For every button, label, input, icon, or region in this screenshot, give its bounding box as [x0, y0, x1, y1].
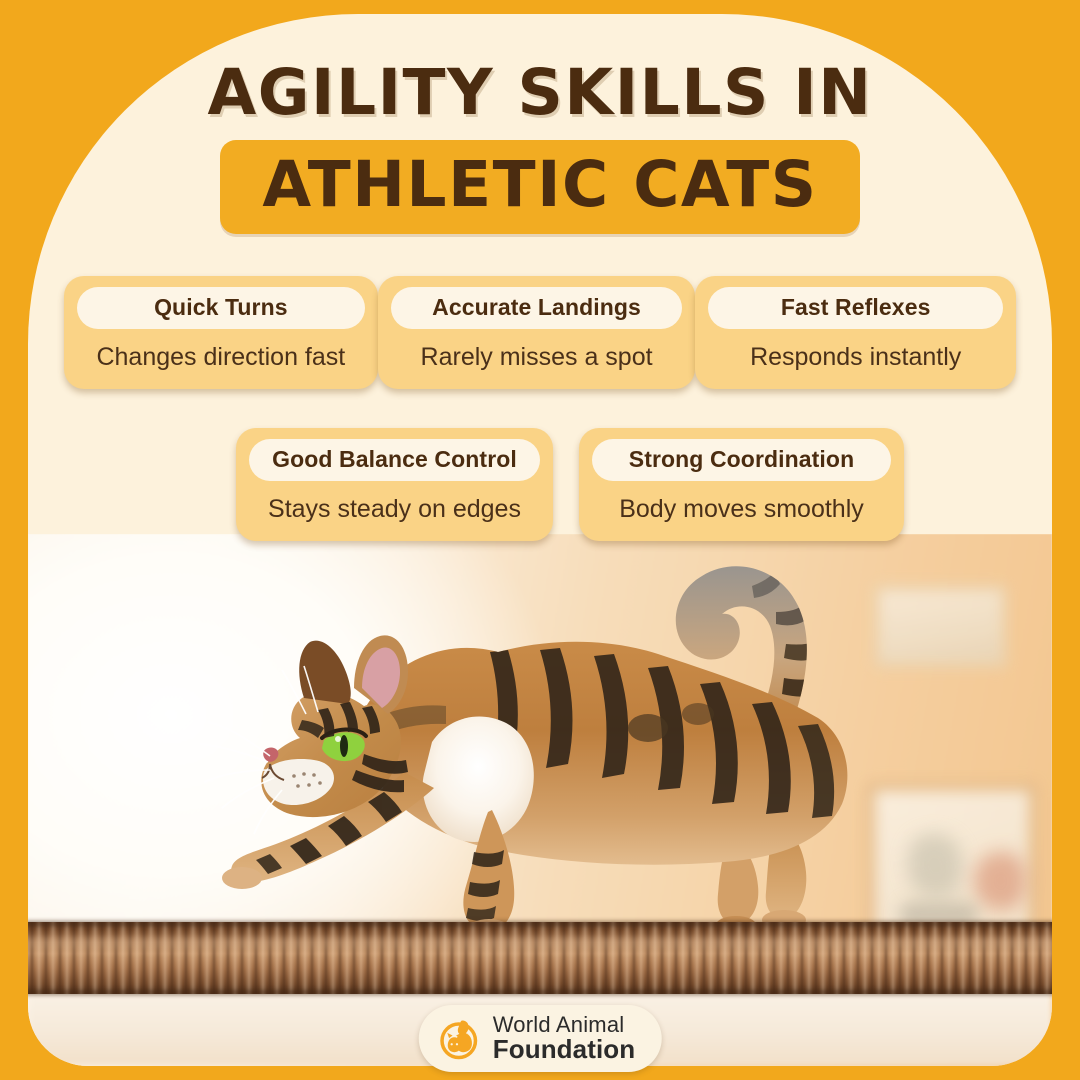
poster-heading: AGILITY SKILLS IN ATHLETIC CATS — [28, 60, 1052, 234]
fact-card-title: Quick Turns — [77, 287, 365, 329]
fact-card-accurate-landings[interactable]: Accurate Landings Rarely misses a spot — [378, 276, 696, 389]
tabby-cat-illustration — [178, 542, 938, 942]
infographic-poster: AGILITY SKILLS IN ATHLETIC CATS Quick Tu… — [0, 0, 1080, 1080]
fact-card-title: Accurate Landings — [391, 287, 683, 329]
cat-ear-left — [299, 641, 351, 704]
perch-top-edge — [28, 921, 1052, 926]
title-line-2-band: ATHLETIC CATS — [220, 140, 859, 234]
fact-card-description: Rarely misses a spot — [391, 343, 683, 372]
animal-circle-logo-icon — [437, 1017, 481, 1061]
perch-rope-texture — [28, 922, 1052, 994]
perch-highlight — [28, 938, 1052, 954]
fact-card-description: Responds instantly — [708, 343, 1003, 372]
poster-inner-panel: AGILITY SKILLS IN ATHLETIC CATS Quick Tu… — [28, 14, 1052, 1066]
brand-logo-text: World Animal Foundation — [493, 1014, 636, 1063]
fact-card-title: Strong Coordination — [592, 439, 891, 481]
frame-artwork-blob — [974, 852, 1026, 910]
brand-logo-line-1: World Animal — [493, 1012, 625, 1037]
fact-card-row-1: Quick Turns Changes direction fast Accur… — [64, 276, 1016, 389]
fact-card-row-2: Good Balance Control Stays steady on edg… — [236, 428, 904, 541]
fact-card-fast-reflexes[interactable]: Fast Reflexes Responds instantly — [695, 276, 1016, 389]
fact-card-description: Stays steady on edges — [249, 495, 540, 524]
brand-logo-line-2: Foundation — [493, 1034, 636, 1064]
rope-cat-perch — [28, 922, 1052, 994]
fact-card-quick-turns[interactable]: Quick Turns Changes direction fast — [64, 276, 378, 389]
title-line-1: AGILITY SKILLS IN — [28, 60, 1052, 127]
fact-card-description: Body moves smoothly — [592, 495, 891, 524]
fact-card-description: Changes direction fast — [77, 343, 365, 372]
fact-card-good-balance-control[interactable]: Good Balance Control Stays steady on edg… — [236, 428, 553, 541]
brand-logo[interactable]: World Animal Foundation — [419, 1005, 662, 1072]
perch-bottom-edge — [28, 990, 1052, 995]
fact-card-title: Fast Reflexes — [708, 287, 1003, 329]
fact-card-strong-coordination[interactable]: Strong Coordination Body moves smoothly — [579, 428, 904, 541]
fact-card-title: Good Balance Control — [249, 439, 540, 481]
